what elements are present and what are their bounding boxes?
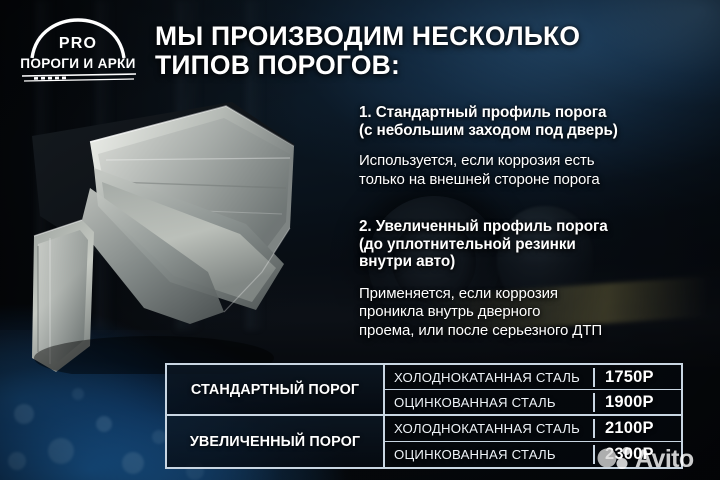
material-label: ХОЛОДНОКАТАННАЯ СТАЛЬ [385, 370, 593, 385]
page-title: МЫ ПРОИЗВОДИМ НЕСКОЛЬКО ТИПОВ ПОРОГОВ: [155, 22, 705, 80]
price-group-standard: СТАНДАРТНЫЙ ПОРОГ ХОЛОДНОКАТАННАЯ СТАЛЬ … [167, 365, 681, 416]
profile-type-2-title-line-1: 2. Увеличенный профиль порога [359, 218, 711, 236]
profile-type-2-title: 2. Увеличенный профиль порога (до уплотн… [359, 218, 711, 271]
profile-type-1-title-line-1: 1. Стандартный профиль порога [359, 104, 711, 122]
material-label: ХОЛОДНОКАТАННАЯ СТАЛЬ [385, 421, 593, 436]
material-label: ОЦИНКОВАННАЯ СТАЛЬ [385, 447, 593, 462]
logo-road-lines-icon [22, 74, 136, 81]
profile-type-2-block: 2. Увеличенный профиль порога (до уплотн… [359, 218, 711, 340]
table-row: ХОЛОДНОКАТАННАЯ СТАЛЬ 2100Р [385, 416, 681, 442]
promo-banner: PRO ПОРОГИ И АРКИ МЫ ПРОИЗВОДИМ НЕСКОЛЬК… [0, 0, 720, 480]
headline-line-1: МЫ ПРОИЗВОДИМ НЕСКОЛЬКО [155, 22, 705, 51]
price-value: 1750Р [593, 368, 681, 387]
price-group-enlarged-label: УВЕЛИЧЕННЫЙ ПОРОГ [167, 416, 385, 467]
logo-subtitle-text: ПОРОГИ И АРКИ [20, 56, 135, 71]
brand-logo: PRO ПОРОГИ И АРКИ [12, 14, 144, 86]
profile-type-2-description: Применяется, если коррозия проникла внут… [359, 285, 711, 340]
avito-logo-icon [598, 447, 631, 469]
table-row: ХОЛОДНОКАТАННАЯ СТАЛЬ 1750Р [385, 365, 681, 390]
price-group-standard-rows: ХОЛОДНОКАТАННАЯ СТАЛЬ 1750Р ОЦИНКОВАННАЯ… [385, 365, 681, 414]
metal-sill-product-image [0, 96, 366, 374]
avito-watermark: Avito [595, 440, 715, 474]
logo-pro-text: PRO [59, 35, 97, 52]
price-group-standard-label: СТАНДАРТНЫЙ ПОРОГ [167, 365, 385, 414]
profile-type-1-title: 1. Стандартный профиль порога (с небольш… [359, 104, 711, 139]
profile-type-2-description-line-2: проникла внутрь дверного [359, 303, 711, 321]
profile-type-1-description: Используется, если коррозия есть только … [359, 152, 711, 189]
profile-type-2-title-line-3: внутри авто) [359, 253, 711, 271]
material-label: ОЦИНКОВАННАЯ СТАЛЬ [385, 395, 593, 410]
profile-type-1-title-line-2: (с небольшим заходом под дверь) [359, 122, 711, 140]
profile-type-2-description-line-1: Применяется, если коррозия [359, 285, 711, 303]
profile-type-1-description-line-1: Используется, если коррозия есть [359, 152, 711, 170]
headline-line-2: ТИПОВ ПОРОГОВ: [155, 51, 705, 80]
profile-type-1-block: 1. Стандартный профиль порога (с небольш… [359, 104, 711, 189]
avito-watermark-text: Avito [635, 445, 694, 473]
price-value: 2100Р [593, 419, 681, 438]
price-value: 1900Р [593, 393, 681, 412]
table-row: ОЦИНКОВАННАЯ СТАЛЬ 1900Р [385, 390, 681, 414]
profile-type-2-description-line-3: проема, или после серьезного ДТП [359, 322, 711, 340]
profile-type-2-title-line-2: (до уплотнительной резинки [359, 236, 711, 254]
profile-type-1-description-line-2: только на внешней стороне порога [359, 171, 711, 189]
